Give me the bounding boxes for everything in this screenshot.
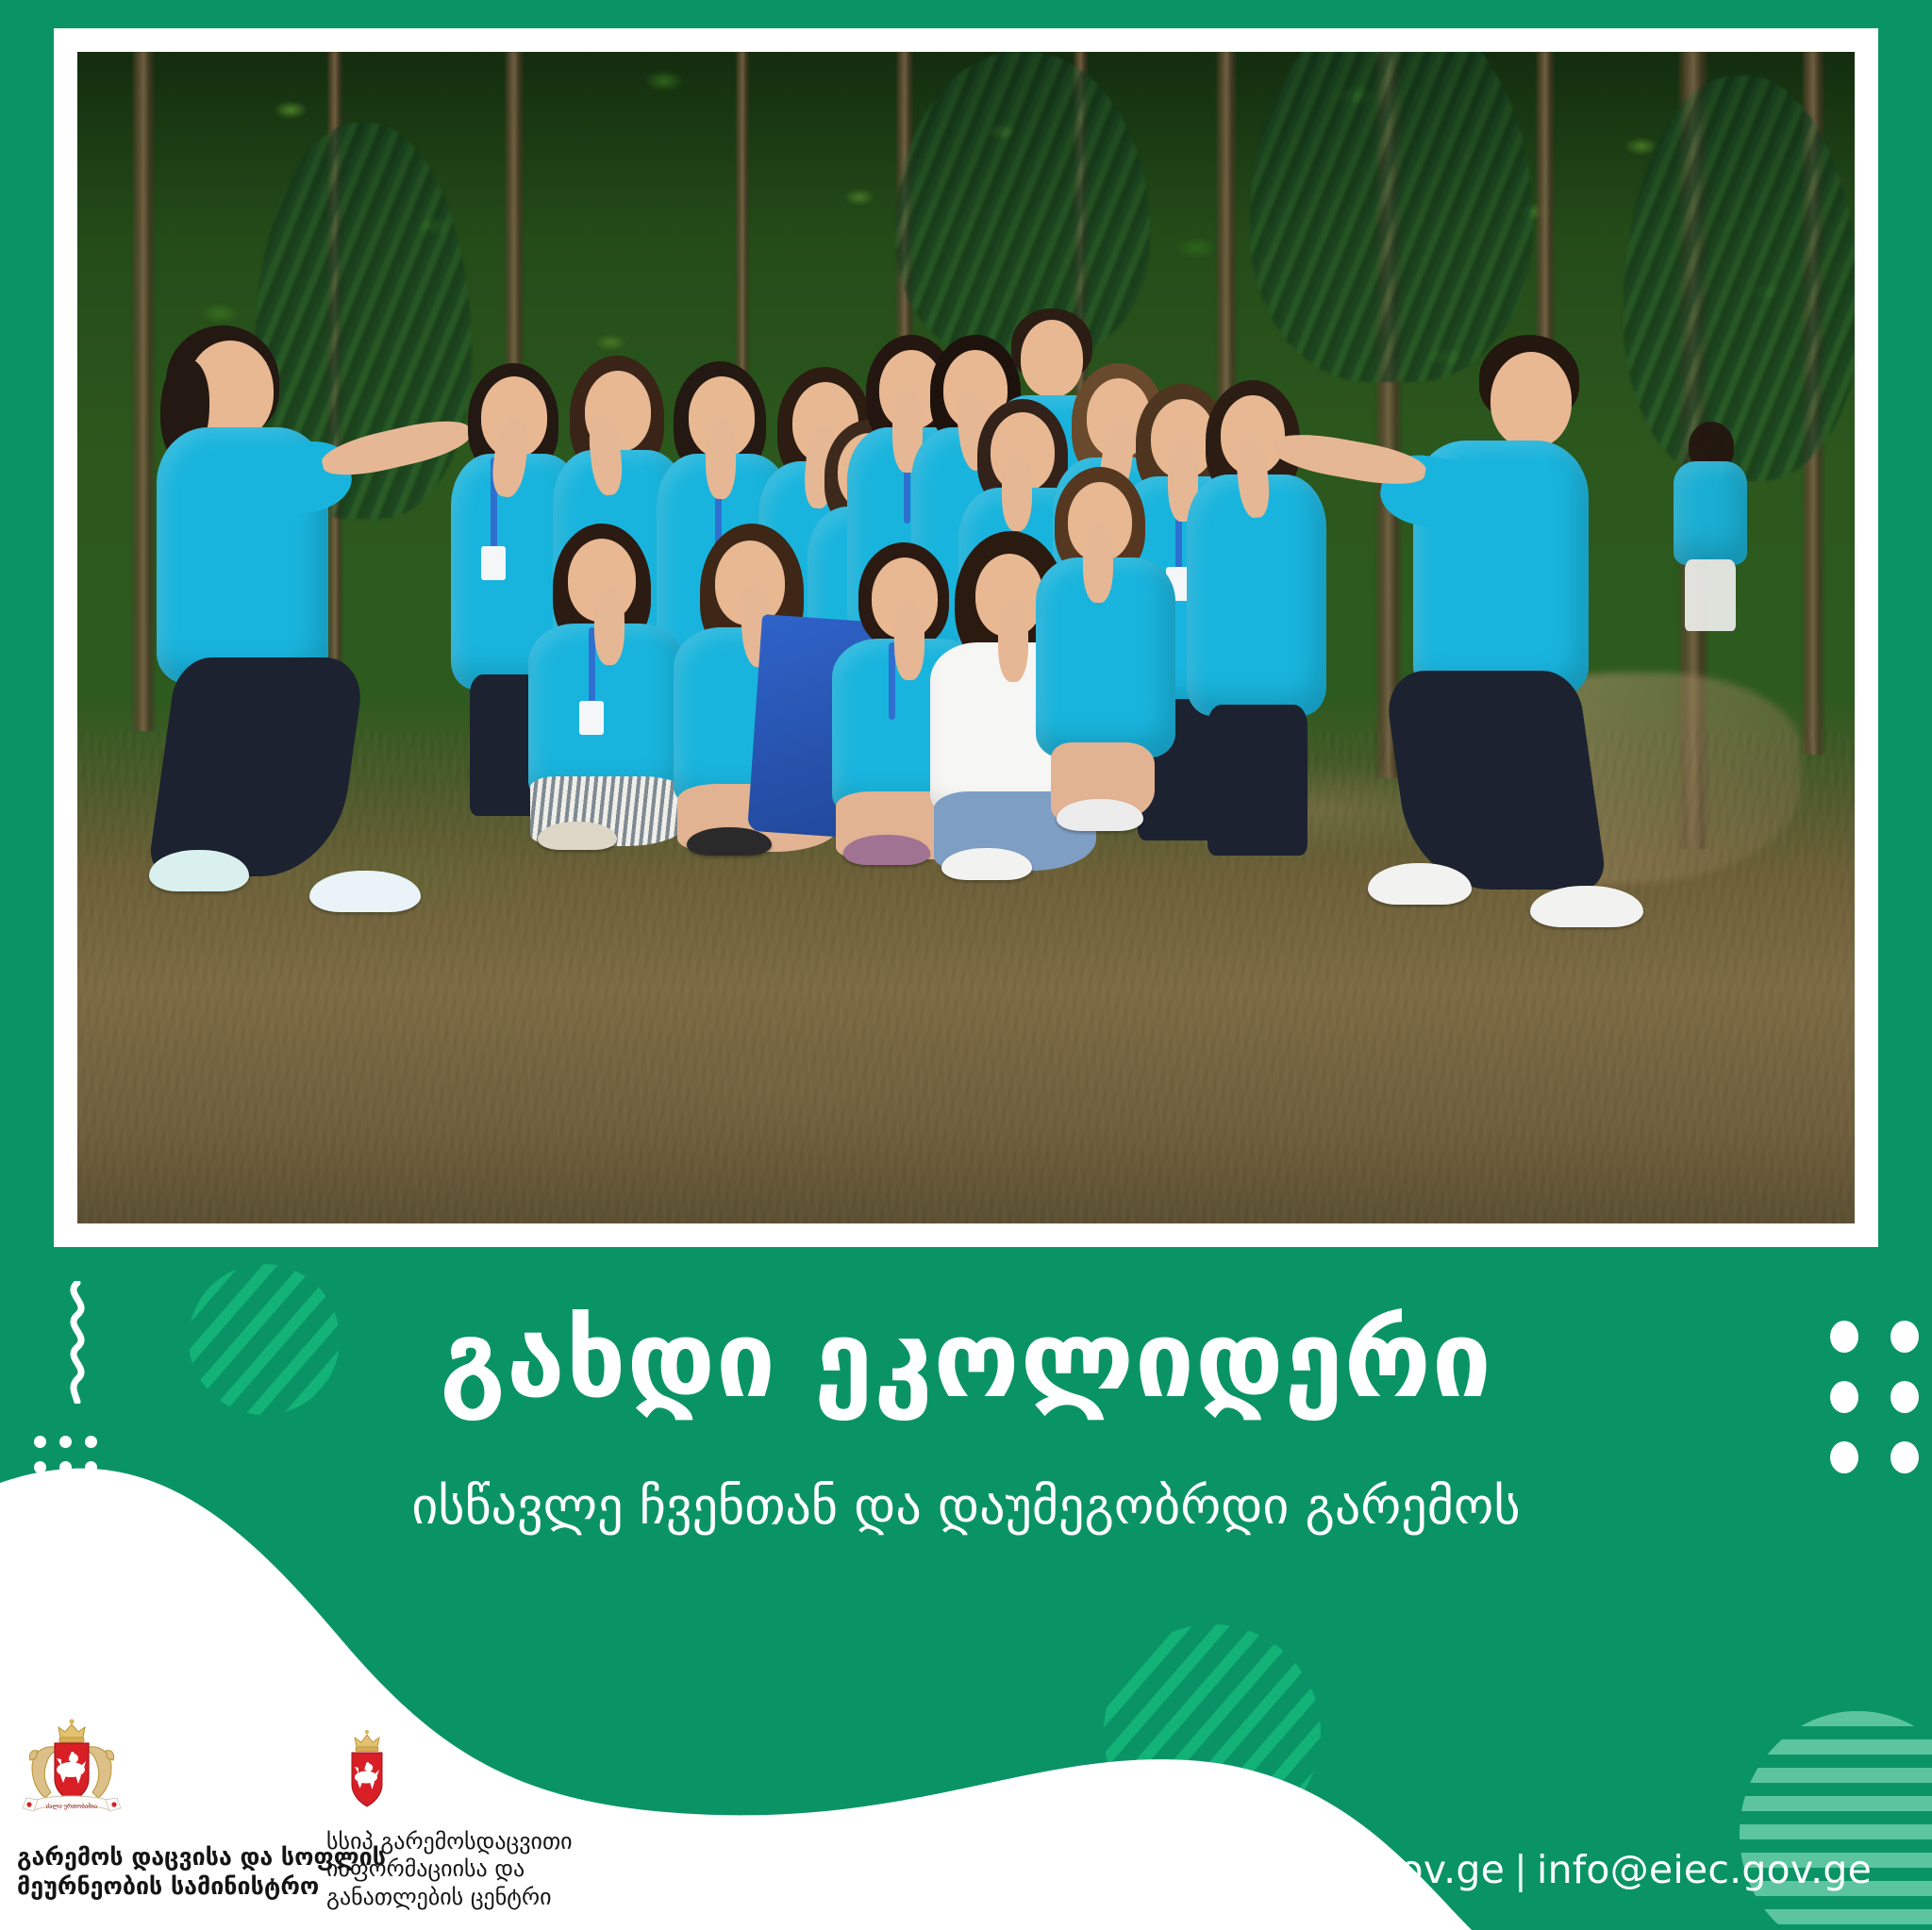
head — [1491, 352, 1572, 448]
legs — [1685, 559, 1736, 631]
georgia-coat-of-arms-icon: ძალა ერთობაშია — [17, 1717, 126, 1822]
website-url[interactable]: www.eiec.gov.ge — [1177, 1847, 1505, 1892]
person — [1294, 335, 1634, 920]
person — [1030, 467, 1181, 844]
arm — [1270, 427, 1428, 491]
email-address[interactable]: info@eiec.gov.ge — [1537, 1847, 1872, 1892]
legs — [1207, 705, 1307, 856]
person — [115, 325, 426, 910]
shoe — [309, 871, 421, 912]
legs — [1383, 671, 1608, 890]
georgia-shield-icon — [340, 1728, 394, 1809]
poster-canvas: გახდი ეკოლიდერი ისწავლე ჩვენთან და დაუმე… — [0, 0, 1932, 1930]
shoe — [1057, 799, 1143, 831]
arm — [706, 418, 736, 499]
center-logo-block: სსიპ გარემოსდაცვითი ინფორმაციისა და განა… — [326, 1728, 573, 1911]
center-caption: სსიპ გარემოსდაცვითი ინფორმაციისა და განა… — [326, 1828, 573, 1911]
shoe — [1368, 863, 1472, 905]
contact-line: www.eiec.gov.ge|info@eiec.gov.ge — [1177, 1847, 1872, 1892]
arm — [1083, 522, 1113, 603]
arm — [1002, 452, 1032, 531]
footer-logo-area: ძალა ერთობაშია გარემოს დაცვისა და სოფლის… — [0, 1709, 849, 1930]
conifer-tree — [1250, 52, 1533, 382]
id-badge — [481, 546, 506, 580]
id-badge — [579, 701, 604, 735]
separator: | — [1505, 1847, 1537, 1892]
group-photo — [77, 52, 1855, 1223]
page-subtitle: ისწავლე ჩვენთან და დაუმეგობრდი გარემოს — [0, 1481, 1932, 1532]
shoe — [538, 822, 617, 850]
svg-text:ძალა ერთობაშია: ძალა ერთობაშია — [46, 1802, 97, 1810]
torso — [1674, 461, 1747, 565]
photo-frame — [54, 28, 1878, 1247]
arm — [594, 586, 625, 665]
arm — [998, 599, 1028, 682]
page-title: გახდი ეკოლიდერი — [0, 1307, 1932, 1413]
legs — [147, 657, 367, 876]
person — [1668, 422, 1753, 629]
shoe — [1530, 886, 1643, 927]
shoe — [687, 827, 772, 856]
shoe — [941, 848, 1032, 880]
shoe — [149, 850, 249, 891]
